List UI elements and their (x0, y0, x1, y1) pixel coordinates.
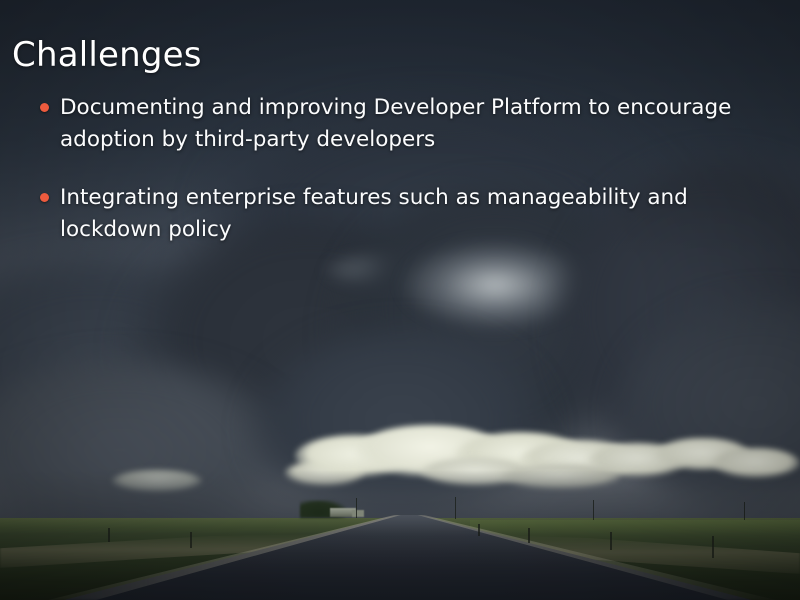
bullet-dot-icon (40, 103, 49, 112)
bullet-item: Documenting and improving Developer Plat… (38, 92, 778, 156)
bullet-dot-icon (40, 193, 49, 202)
bullet-item-text: Documenting and improving Developer Plat… (60, 92, 775, 156)
presentation-slide: Challenges Documenting and improving Dev… (0, 0, 800, 600)
slide-content: Challenges Documenting and improving Dev… (0, 0, 800, 600)
bullet-item: Integrating enterprise features such as … (38, 182, 778, 246)
slide-title: Challenges (12, 35, 202, 75)
bullet-list: Documenting and improving Developer Plat… (38, 92, 778, 272)
bullet-item-text: Integrating enterprise features such as … (60, 182, 775, 246)
